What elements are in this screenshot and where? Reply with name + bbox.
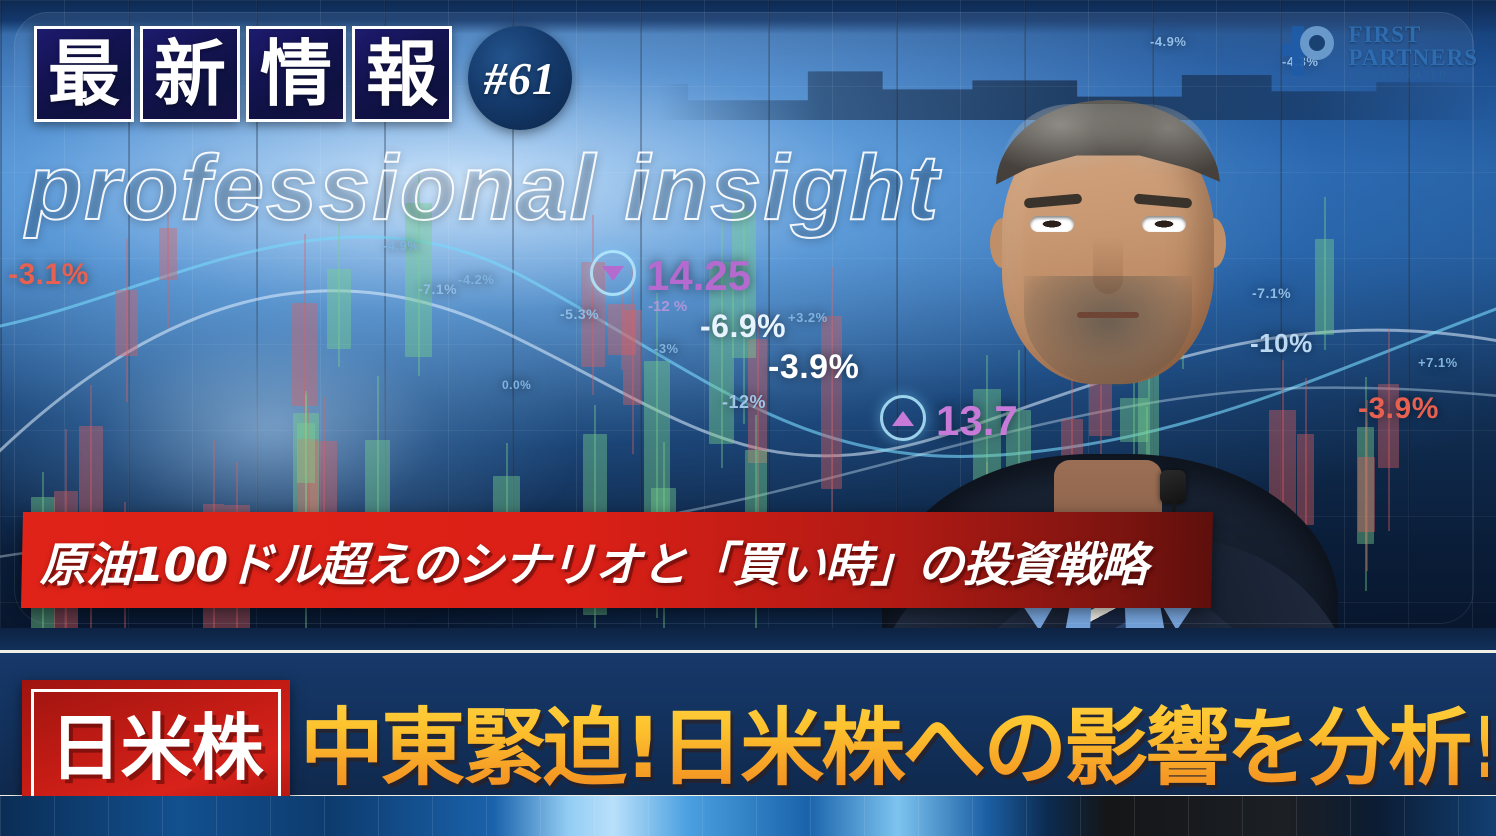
triangle-down-icon bbox=[602, 266, 624, 281]
chart-percent-label: -3.9% bbox=[1358, 392, 1439, 426]
headline-bar: 日米株 中東緊迫!日米株への影響を分析! bbox=[0, 628, 1496, 818]
series-title-block-4: 報 bbox=[352, 26, 452, 122]
lapel-microphone-icon bbox=[1160, 470, 1186, 504]
headline-text: 中東緊迫!日米株への影響を分析! bbox=[300, 682, 1488, 814]
tagline-professional-insight: professional insight bbox=[26, 136, 940, 241]
bottom-photo-strip bbox=[0, 796, 1496, 836]
presenter-eye-right bbox=[1142, 216, 1186, 232]
presenter-hair-highlight bbox=[1000, 104, 1216, 174]
brand-name-line3: INCORPORATED bbox=[1349, 71, 1478, 80]
series-title-char: 情 bbox=[260, 38, 332, 110]
chart-percent-label: 0.0% bbox=[502, 378, 531, 392]
candlestick bbox=[115, 290, 138, 356]
chart-percent-label: -4.2% bbox=[458, 272, 494, 287]
chart-percent-label: -3.9% bbox=[768, 348, 859, 387]
episode-number-badge: #61 bbox=[468, 26, 572, 130]
candlestick-wick bbox=[632, 266, 634, 454]
chart-percent-label: +3.2% bbox=[788, 310, 828, 325]
youtube-thumbnail: -3.1%-4.9%-4.2%-7.1%-5.3%-3%-6.9%-3.9%+3… bbox=[0, 0, 1496, 836]
fp-monogram-icon bbox=[1282, 22, 1340, 80]
chart-percent-label: -7.1% bbox=[418, 281, 457, 297]
chart-percent-label: -6.9% bbox=[700, 308, 786, 345]
candlestick bbox=[821, 316, 842, 489]
chart-percent-label: -5.3% bbox=[560, 306, 599, 322]
brand-name-line2: PARTNERS bbox=[1349, 46, 1478, 69]
episode-number-label: #61 bbox=[484, 52, 556, 105]
series-title-blocks: 最新情報 bbox=[34, 26, 452, 122]
presenter-nose bbox=[1093, 236, 1123, 294]
candlestick-wick bbox=[592, 215, 594, 395]
candlestick-wick bbox=[126, 239, 128, 401]
series-title-char: 最 bbox=[48, 38, 120, 110]
candlestick-wick bbox=[305, 395, 307, 523]
series-title-block-3: 情 bbox=[246, 26, 346, 122]
candlestick-wick bbox=[1388, 329, 1390, 531]
headline-bar-cap-top bbox=[0, 628, 1496, 650]
subtitle-banner-text: 原油100ドル超えのシナリオと「買い時」の投資戦略 bbox=[39, 516, 1221, 604]
brand-name-line1: FIRST bbox=[1349, 23, 1478, 46]
series-title-char: 新 bbox=[154, 38, 226, 110]
series-title-block-1: 最 bbox=[34, 26, 134, 122]
headline-bar-rule-top bbox=[0, 650, 1496, 653]
chart-marker-value: 14.25 bbox=[646, 252, 751, 300]
series-title-char: 報 bbox=[366, 38, 438, 110]
candlestick bbox=[297, 423, 315, 483]
chart-percent-label: -12% bbox=[722, 392, 766, 413]
presenter-mouth bbox=[1077, 312, 1139, 318]
presenter-eye-left bbox=[1030, 216, 1074, 232]
chart-percent-label: -3% bbox=[654, 341, 679, 356]
chart-percent-label: -3.1% bbox=[8, 258, 89, 292]
series-title-block-2: 新 bbox=[140, 26, 240, 122]
chart-percent-label: +7.1% bbox=[1418, 355, 1458, 370]
brand-logo-text: FIRST PARTNERS INCORPORATED bbox=[1349, 23, 1478, 80]
brand-logo: FIRST PARTNERS INCORPORATED bbox=[1282, 22, 1478, 80]
chart-marker-down-icon bbox=[590, 250, 636, 296]
candlestick-wick bbox=[621, 289, 623, 371]
candlestick-wick bbox=[338, 223, 340, 367]
category-tag-label: 日米株 bbox=[49, 712, 262, 784]
candlestick bbox=[608, 304, 636, 355]
candlestick bbox=[327, 269, 351, 349]
candlestick-wick bbox=[831, 267, 833, 545]
chart-marker-subvalue: -12 % bbox=[648, 298, 687, 315]
